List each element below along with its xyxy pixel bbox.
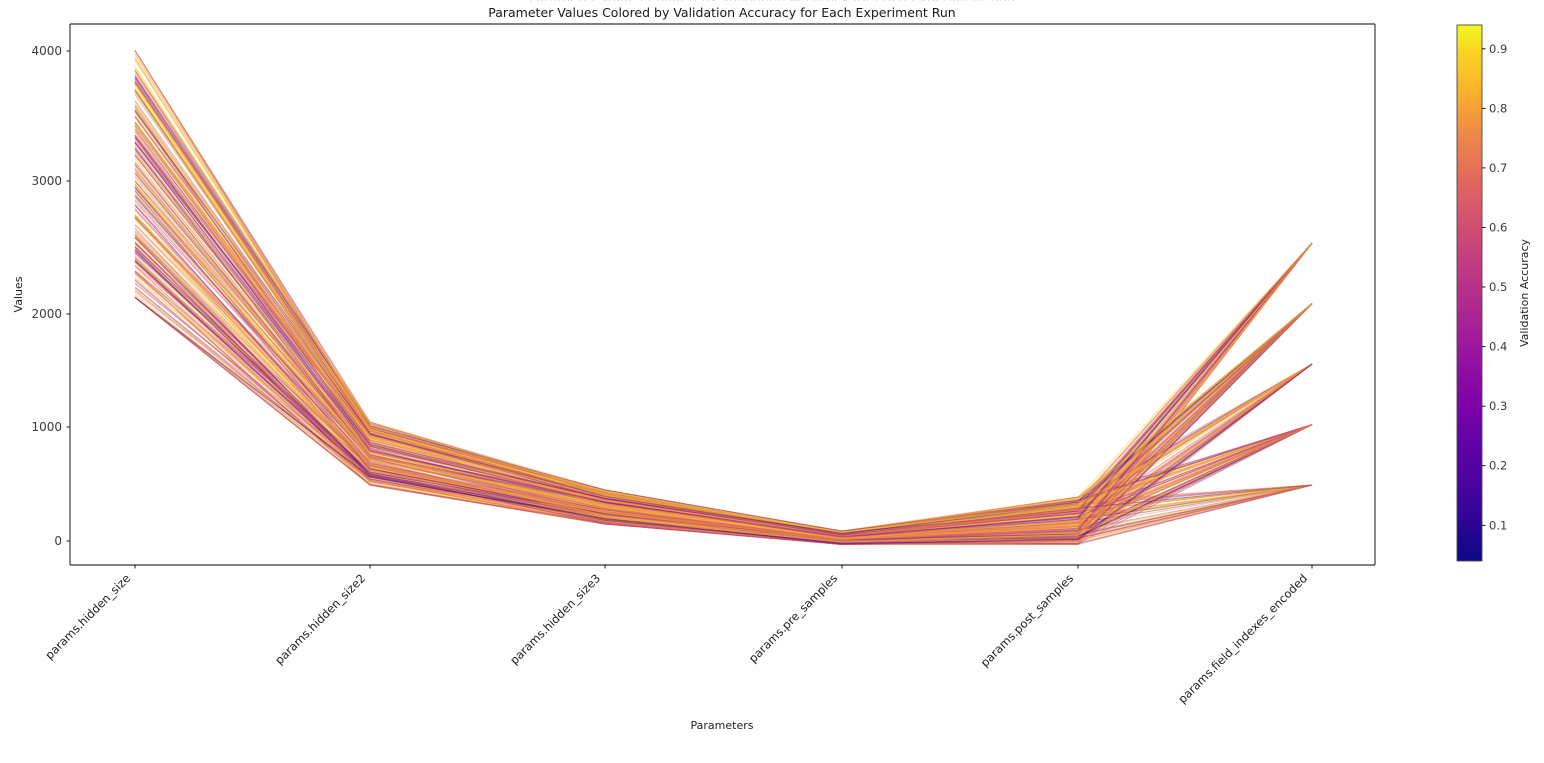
x-tick-label: params.hidden_size3 bbox=[507, 571, 603, 667]
colorbar-tick-label: 0.3 bbox=[1489, 399, 1507, 413]
colorbar-gradient-rect bbox=[1457, 25, 1482, 561]
colorbar-tick-label: 0.5 bbox=[1489, 280, 1507, 294]
data-lines-group bbox=[135, 51, 1312, 545]
parallel-coordinates-chart: 01000200030004000Valuesparams.hidden_siz… bbox=[0, 0, 1544, 763]
colorbar-tick-label: 0.4 bbox=[1489, 340, 1507, 354]
y-axis: 01000200030004000Values bbox=[12, 44, 70, 548]
y-tick-label: 1000 bbox=[31, 420, 62, 434]
x-axis: params.hidden_sizeparams.hidden_size2par… bbox=[42, 565, 1312, 732]
colorbar-tick-label: 0.6 bbox=[1489, 220, 1507, 234]
y-axis-label: Values bbox=[12, 276, 25, 312]
chart-title: Parameter Values Colored by Validation A… bbox=[488, 5, 955, 20]
x-tick-label: params.post_samples bbox=[978, 571, 1077, 670]
x-axis-label: Parameters bbox=[691, 719, 754, 732]
figure-canvas: Parameter Values Colored by Validation A… bbox=[0, 0, 1544, 763]
y-tick-label: 4000 bbox=[31, 44, 62, 58]
y-tick-label: 3000 bbox=[31, 174, 62, 188]
colorbar-tick-label: 0.1 bbox=[1489, 518, 1507, 532]
colorbar: 0.10.20.30.40.50.60.70.80.9Validation Ac… bbox=[1457, 25, 1531, 561]
x-tick-label: params.field_indexes_encoded bbox=[1175, 571, 1310, 706]
colorbar-tick-label: 0.9 bbox=[1489, 42, 1507, 56]
colorbar-tick-label: 0.2 bbox=[1489, 459, 1507, 473]
x-tick-label: params.hidden_size bbox=[42, 571, 133, 662]
colorbar-tick-label: 0.8 bbox=[1489, 101, 1507, 115]
colorbar-tick-label: 0.7 bbox=[1489, 161, 1507, 175]
x-tick-label: params.hidden_size2 bbox=[272, 571, 368, 667]
colorbar-label: Validation Accuracy bbox=[1518, 238, 1531, 347]
y-tick-label: 0 bbox=[54, 534, 62, 548]
y-tick-label: 2000 bbox=[31, 307, 62, 321]
x-tick-label: params.pre_samples bbox=[746, 571, 840, 665]
